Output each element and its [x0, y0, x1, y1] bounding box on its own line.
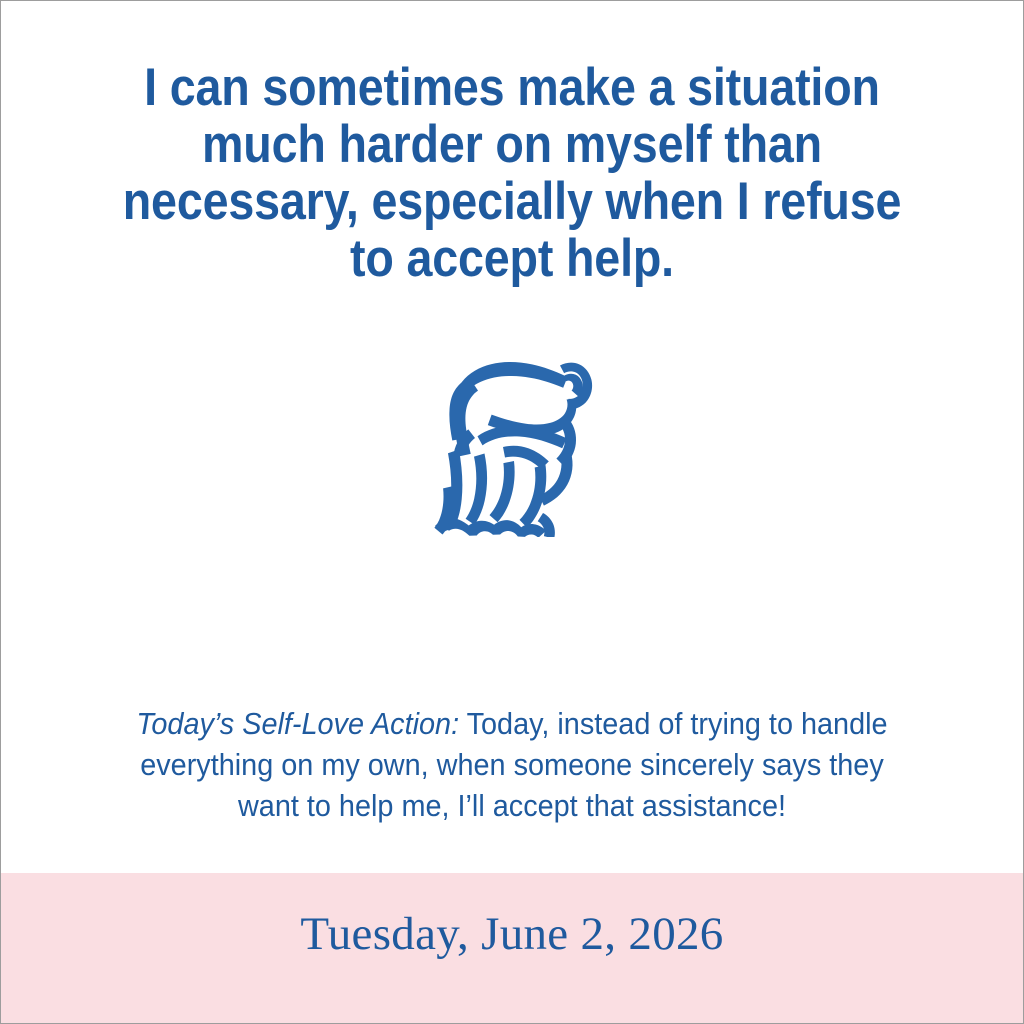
- date-banner: Tuesday, June 2, 2026: [1, 873, 1023, 1023]
- date-text: Tuesday, June 2, 2026: [300, 911, 723, 958]
- affirmation-text: I can sometimes make a situation much ha…: [103, 59, 921, 287]
- affirmation-headline: I can sometimes make a situation much ha…: [47, 59, 977, 287]
- conch-shell-brushstroke-icon: [421, 353, 603, 537]
- self-love-action-label: Today’s Self-Love Action:: [136, 706, 459, 741]
- daily-affirmation-card: I can sometimes make a situation much ha…: [0, 0, 1024, 1024]
- self-love-action-block: Today’s Self-Love Action: Today, instead…: [77, 703, 947, 826]
